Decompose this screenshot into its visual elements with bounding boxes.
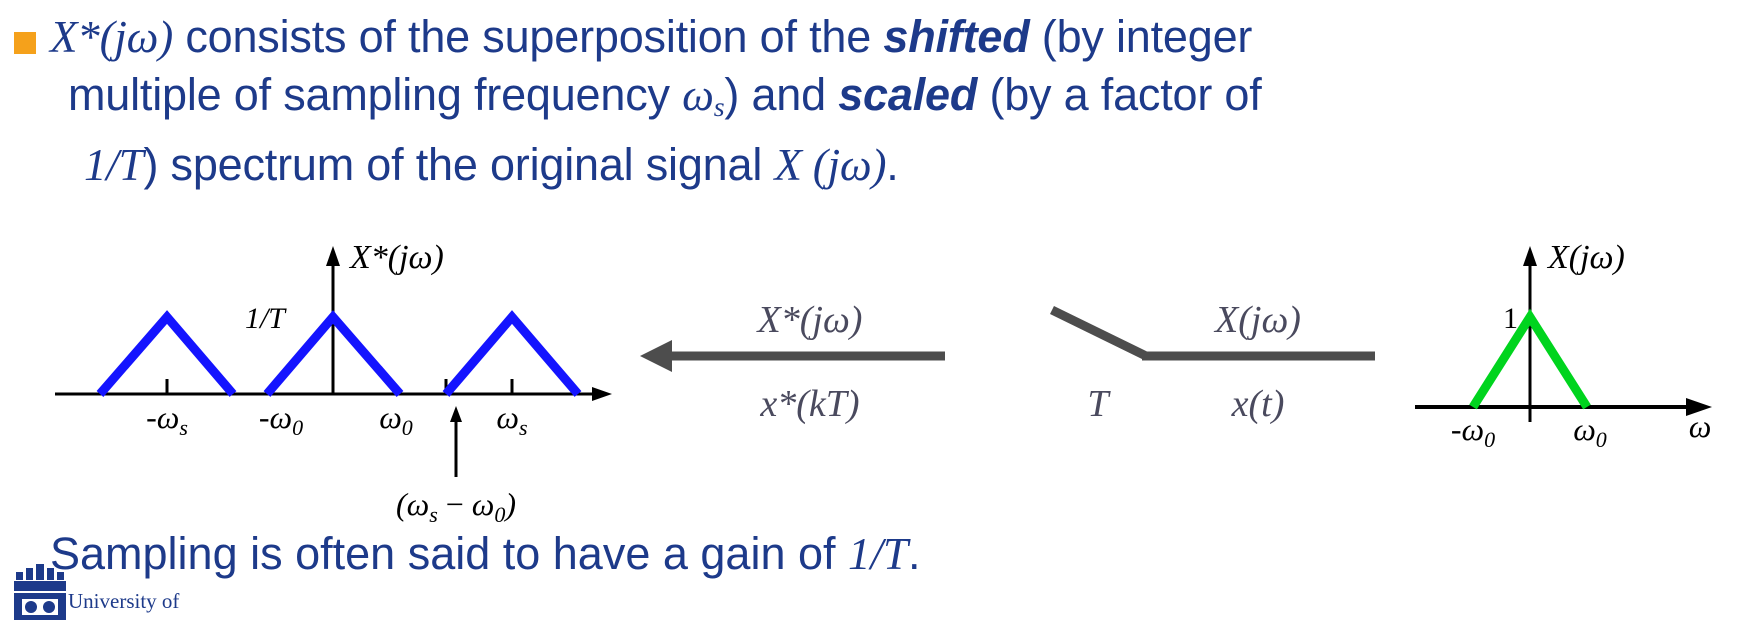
lbl-neg-ws-sym: ω (157, 399, 180, 435)
bullet-line2-post: (by a factor of (977, 69, 1261, 120)
original-spectrum-plot: X(jω) 1 -ω0 ω0 ω (1415, 239, 1712, 452)
left-plot-tick-label-neg-omega-0: -ω0 (259, 399, 303, 440)
sampler-left-arrow-head (640, 340, 672, 372)
left-plot-tick-label-omega-s: ωs (496, 399, 527, 440)
right-plot-axis-label: X(jω) (1546, 239, 1625, 276)
sampler-label-X-jw: X(jω) (1213, 299, 1301, 341)
rlbl-neg-w0-sub: 0 (1484, 427, 1495, 452)
bullet-line-3: 1/T) spectrum of the original signal X (… (50, 136, 1748, 194)
svg-text:ω0: ω0 (379, 399, 413, 440)
bullet-line2-emphasis-scaled: scaled (838, 69, 977, 120)
sampling-figure: X*(jω) 1/T -ωs -ω0 ω0 ωs (0, 232, 1750, 532)
bullet-line2-omega-subscript: s (714, 92, 725, 123)
svg-text:-ω0: -ω0 (1451, 411, 1495, 452)
left-plot-peak-label: 1/T (245, 302, 287, 335)
lbl-neg-ws-sub: s (179, 415, 188, 440)
svg-text:-ωs: -ωs (146, 399, 188, 440)
bullet-line1-mid: consists of the superposition of the (173, 11, 883, 62)
bottom-statement: Sampling is often said to have a gain of… (8, 526, 1748, 582)
bullet-line3-post: . (886, 139, 898, 190)
callout-w0-sub: 0 (494, 502, 505, 527)
lbl-ws-sym: ω (496, 399, 519, 435)
bullet-line3-mid: ) spectrum of the original signal (143, 139, 774, 190)
lbl-w0-sym: ω (379, 399, 402, 435)
lbl-neg-w0-sign: - (259, 399, 270, 435)
lbl-ws-sub: s (519, 415, 528, 440)
sampler-label-T: T (1087, 383, 1111, 425)
bullet-line1-emphasis-shifted: shifted (883, 11, 1029, 62)
rlbl-w0-sym: ω (1573, 411, 1596, 447)
bullet-line-1: X*(jω) consists of the superposition of … (50, 8, 1748, 66)
callout-w0-sym: ω (472, 486, 495, 522)
callout-ws-sym: ω (407, 486, 430, 522)
sampler-label-x-t: x(t) (1231, 383, 1285, 425)
left-plot-tick-label-neg-omega-s: -ωs (146, 399, 188, 440)
callout-close: ) (503, 486, 516, 522)
sampler-label-x-star-kT: x*(kT) (759, 383, 859, 425)
right-plot-y-axis-arrowhead (1523, 246, 1537, 266)
bullet-line-2: multiple of sampling frequency ωs) and s… (50, 66, 1748, 136)
svg-text:ωs: ωs (496, 399, 527, 440)
right-plot-x-axis-label: ω (1689, 408, 1712, 444)
bullet-paragraph-block: X*(jω) consists of the superposition of … (8, 8, 1748, 194)
callout-label: (ωs − ω0) (396, 486, 516, 527)
bullet-paragraph: X*(jω) consists of the superposition of … (8, 8, 1748, 194)
right-plot-tick-label-omega-0: ω0 (1573, 411, 1607, 452)
sampler-arrow-group: X*(jω) x*(kT) T X(jω) x(t) (640, 299, 1375, 425)
bullet-line1-post: (by integer (1029, 11, 1252, 62)
bottom-statement-math: 1/T (848, 529, 908, 579)
bullet-line2-pre: multiple of sampling frequency (68, 69, 682, 120)
sampler-switch-blade (1052, 310, 1146, 356)
rlbl-w0-sub: 0 (1596, 427, 1607, 452)
university-crest-logo: University of (12, 564, 242, 644)
bullet-line3-math-gain: 1/T (84, 140, 143, 190)
svg-text:ω0: ω0 (1573, 411, 1607, 452)
left-plot-y-axis-arrowhead (326, 246, 340, 266)
bullet-line1-math: X*(jω) (50, 12, 173, 62)
right-plot-peak-label: 1 (1503, 302, 1518, 335)
callout-arrow-head (450, 406, 462, 422)
bullet-line2-omega: ω (682, 70, 714, 120)
svg-text:-ω0: -ω0 (259, 399, 303, 440)
bullet-line2-mid: ) and (724, 69, 838, 120)
lbl-neg-ws-sign: - (146, 399, 157, 435)
left-plot-tick-label-omega-0: ω0 (379, 399, 413, 440)
left-plot-x-axis-arrowhead (592, 387, 612, 401)
lbl-neg-w0-sym: ω (270, 399, 293, 435)
sampler-label-X-star-jw: X*(jω) (756, 299, 863, 341)
logo-caption: University of (68, 590, 179, 612)
callout-minus: − (438, 486, 472, 522)
left-plot-axis-label: X*(jω) (348, 239, 444, 276)
bottom-statement-post: . (908, 528, 921, 579)
rlbl-neg-w0-sym: ω (1462, 411, 1485, 447)
right-plot-tick-label-neg-omega-0: -ω0 (1451, 411, 1495, 452)
bullet-line3-math-spectrum: X (jω) (774, 140, 886, 190)
sampled-spectrum-plot: X*(jω) 1/T -ωs -ω0 ω0 ωs (55, 239, 612, 527)
bottom-statement-block: Sampling is often said to have a gain of… (8, 526, 1748, 582)
bullet-marker-icon (14, 32, 36, 54)
lbl-w0-sub: 0 (402, 415, 413, 440)
callout-ws-sub: s (429, 502, 438, 527)
rlbl-neg-w0-sign: - (1451, 411, 1462, 447)
crest-icon (12, 564, 72, 620)
lbl-neg-w0-sub: 0 (292, 415, 303, 440)
